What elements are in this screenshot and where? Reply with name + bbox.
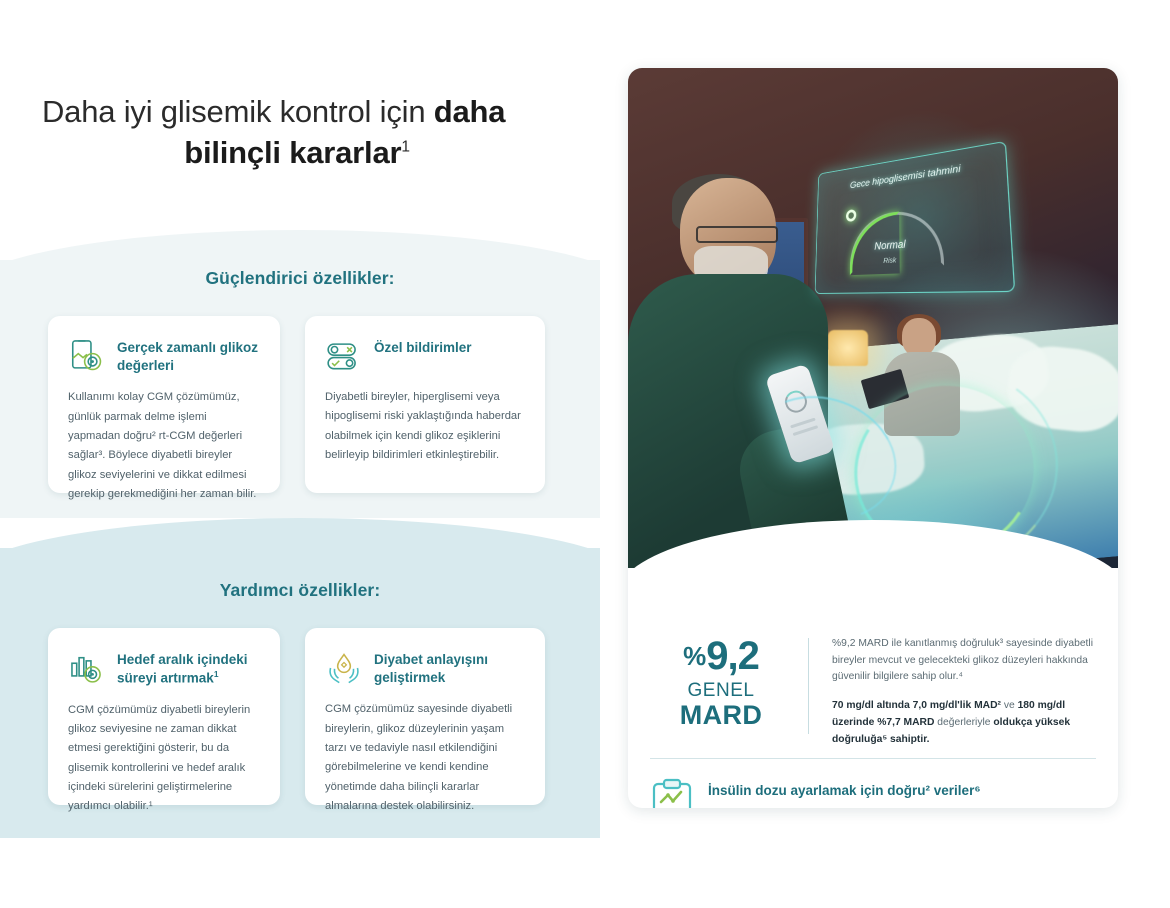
card-title: Hedef aralık içindeki süreyi artırmak1 bbox=[117, 648, 260, 688]
card-body-text: Kullanımı kolay CGM çözümümüz, günlük pa… bbox=[68, 388, 260, 504]
drop-in-hands-icon bbox=[325, 649, 363, 687]
insulin-title: İnsülin dozu ayarlamak için doğru² veril… bbox=[708, 778, 1086, 800]
vertical-divider bbox=[808, 638, 809, 734]
page-title: Daha iyi glisemik kontrol için daha bili… bbox=[42, 92, 552, 174]
card-header: Özel bildirimler bbox=[325, 336, 525, 375]
mard-paragraph-1: %9,2 MARD ile kanıtlanmış doğruluk³ saye… bbox=[832, 636, 1100, 686]
page-root: Daha iyi glisemik kontrol için daha bili… bbox=[0, 0, 1170, 908]
hologram-gauge-knob bbox=[846, 209, 856, 222]
card-title-text: Gerçek zamanlı glikoz değerleri bbox=[117, 340, 258, 373]
headline-line1-bold: daha bbox=[434, 94, 506, 129]
card-title-text: Diyabet anlayışını geliştirmek bbox=[374, 652, 488, 685]
lifestyle-photo: Gece hipoglisemisi tahmini Normal Risk bbox=[628, 68, 1118, 568]
bar-chart-sensor-icon bbox=[68, 649, 106, 687]
feature-card-time-in-range[interactable]: Hedef aralık içindeki süreyi artırmak1 C… bbox=[48, 628, 280, 805]
feature-card-custom-notifications[interactable]: Özel bildirimler Diyabetli bireyler, hip… bbox=[305, 316, 545, 493]
headline-line1-normal: Daha iyi glisemik kontrol için bbox=[42, 94, 434, 129]
mard-value-row: %9,2 bbox=[646, 636, 796, 676]
mard-paragraph-2: 70 mg/dl altında 7,0 mg/dl'lik MAD² ve 1… bbox=[832, 697, 1100, 748]
mard-value: 9,2 bbox=[706, 634, 759, 678]
card-title-superscript: 1 bbox=[214, 669, 219, 679]
section-title-empowering: Güçlendirici özellikler: bbox=[0, 268, 600, 289]
card-header: Diyabet anlayışını geliştirmek bbox=[325, 648, 525, 687]
card-title: Özel bildirimler bbox=[374, 336, 472, 357]
toggle-switches-icon bbox=[325, 337, 363, 375]
mard-stat-block: %9,2 GENEL MARD %9,2 MARD ile kanıtlanmı… bbox=[628, 566, 1118, 696]
card-title-text: Hedef aralık içindeki süreyi artırmak bbox=[117, 652, 248, 686]
mard-copy: %9,2 MARD ile kanıtlanmış doğruluk³ saye… bbox=[832, 636, 1100, 748]
card-header: Gerçek zamanlı glikoz değerleri bbox=[68, 336, 260, 375]
card-body-text: CGM çözümümüz sayesinde diyabetli bireyl… bbox=[325, 700, 525, 816]
card-header: Hedef aralık içindeki süreyi artırmak1 bbox=[68, 648, 260, 688]
right-panel: Gece hipoglisemisi tahmini Normal Risk %… bbox=[628, 68, 1118, 808]
feature-card-realtime-glucose[interactable]: Gerçek zamanlı glikoz değerleri Kullanım… bbox=[48, 316, 280, 493]
section-title-supporting: Yardımcı özellikler: bbox=[0, 580, 600, 601]
card-title-text: Özel bildirimler bbox=[374, 340, 472, 355]
mard-label-bottom: MARD bbox=[646, 700, 796, 731]
percent-symbol: % bbox=[683, 641, 705, 671]
headline-line2-bold: bilinçli kararlar bbox=[184, 135, 401, 170]
mard-label-top: GENEL bbox=[646, 680, 796, 702]
headline-superscript: 1 bbox=[401, 139, 409, 156]
feature-card-diabetes-understanding[interactable]: Diyabet anlayışını geliştirmek CGM çözüm… bbox=[305, 628, 545, 805]
card-body-text: CGM çözümümüz diyabetli bireylerin gliko… bbox=[68, 701, 260, 817]
card-body-text: Diyabetli bireyler, hiperglisemi veya hi… bbox=[325, 388, 525, 465]
card-title: Gerçek zamanlı glikoz değerleri bbox=[117, 336, 260, 375]
insulin-text-wrap: İnsülin dozu ayarlamak için doğru² veril… bbox=[708, 778, 1086, 808]
mard-figure: %9,2 GENEL MARD bbox=[646, 636, 796, 731]
horizontal-divider bbox=[650, 758, 1096, 759]
insulin-dosing-block: İnsülin dozu ayarlamak için doğru² veril… bbox=[650, 778, 1102, 808]
clipboard-chart-icon bbox=[650, 778, 694, 808]
mard-p2-bold-a: 70 mg/dl altında 7,0 mg/dl'lik MAD² bbox=[832, 700, 1004, 711]
card-title: Diyabet anlayışını geliştirmek bbox=[374, 648, 525, 687]
glasses-icon bbox=[696, 226, 778, 243]
mard-p2-plain-b: ve bbox=[1004, 700, 1018, 711]
woman-head bbox=[902, 318, 936, 356]
phone-sensor-icon bbox=[68, 337, 106, 375]
left-column: Daha iyi glisemik kontrol için daha bili… bbox=[0, 0, 600, 908]
mard-p2-plain-d: değerleriyle bbox=[937, 717, 993, 728]
